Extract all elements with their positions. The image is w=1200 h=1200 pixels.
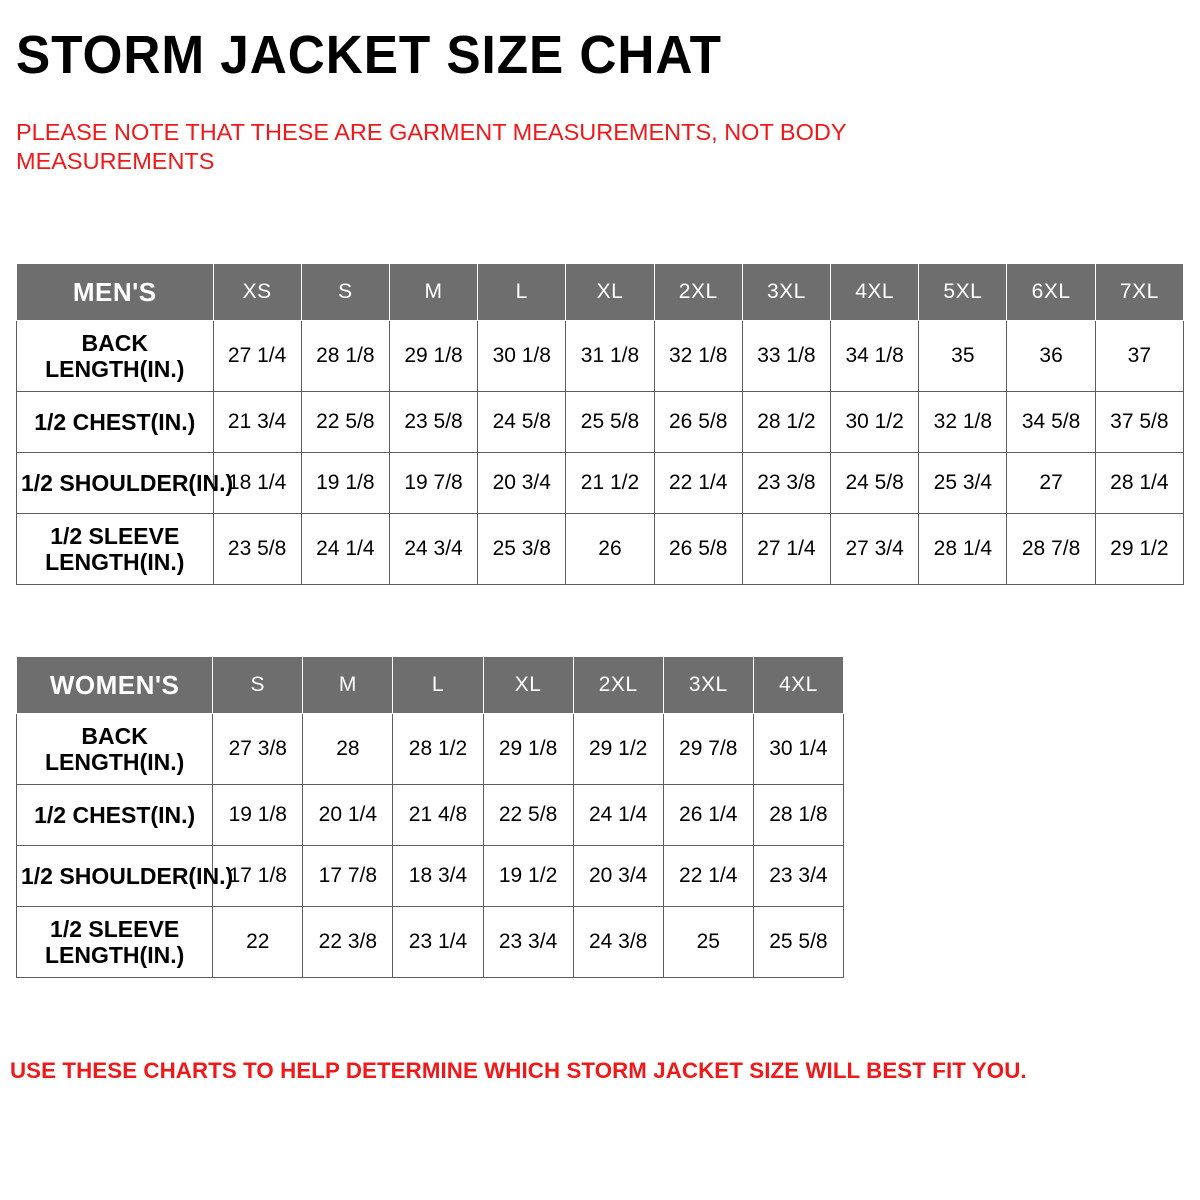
row-label-line: 1/2 SHOULDER(IN.) <box>21 470 233 496</box>
mens-size-header-3xl: 3XL <box>742 264 830 321</box>
womens-size-table: WOMEN'SSMLXL2XL3XL4XL BACKLENGTH(IN.)27 … <box>16 656 844 978</box>
measurement-cell: 24 1/4 <box>573 785 663 846</box>
measurement-cell: 24 3/8 <box>573 907 663 978</box>
mens-size-header-2xl: 2XL <box>654 264 742 321</box>
measurement-cell: 30 1/2 <box>831 392 919 453</box>
measurement-cell: 23 5/8 <box>213 514 301 585</box>
measurement-cell: 22 <box>213 907 303 978</box>
measurement-cell: 27 1/4 <box>213 321 301 392</box>
measurement-cell: 21 3/4 <box>213 392 301 453</box>
row-label-line: LENGTH(IN.) <box>45 356 184 382</box>
measurement-cell: 22 1/4 <box>663 846 753 907</box>
measurement-cell: 24 5/8 <box>831 453 919 514</box>
measurement-cell: 19 1/2 <box>483 846 573 907</box>
measurement-cell: 25 5/8 <box>566 392 654 453</box>
usage-note: USE THESE CHARTS TO HELP DETERMINE WHICH… <box>10 1058 1168 1084</box>
size-chart-page: STORM JACKET SIZE CHAT PLEASE NOTE THAT … <box>0 0 1200 1200</box>
womens-size-header-3xl: 3XL <box>663 657 753 714</box>
measurement-cell: 37 5/8 <box>1095 392 1183 453</box>
mens-row-label: 1/2 SLEEVELENGTH(IN.) <box>17 514 214 585</box>
mens-size-header-7xl: 7XL <box>1095 264 1183 321</box>
mens-size-header-4xl: 4XL <box>831 264 919 321</box>
measurement-cell: 34 1/8 <box>831 321 919 392</box>
measurement-cell: 22 5/8 <box>483 785 573 846</box>
mens-size-header-xl: XL <box>566 264 654 321</box>
measurement-cell: 30 1/8 <box>478 321 566 392</box>
measurement-cell: 20 3/4 <box>573 846 663 907</box>
womens-corner-header: WOMEN'S <box>17 657 213 714</box>
measurement-cell: 26 1/4 <box>663 785 753 846</box>
measurement-cell: 28 1/4 <box>1095 453 1183 514</box>
measurement-cell: 23 1/4 <box>393 907 483 978</box>
measurement-cell: 27 <box>1007 453 1095 514</box>
mens-table-head: MEN'SXSSMLXL2XL3XL4XL5XL6XL7XL <box>17 264 1184 321</box>
mens-corner-header: MEN'S <box>17 264 214 321</box>
measurement-cell: 27 1/4 <box>742 514 830 585</box>
measurement-cell: 28 1/8 <box>753 785 843 846</box>
measurement-cell: 22 5/8 <box>301 392 389 453</box>
measurement-cell: 29 7/8 <box>663 714 753 785</box>
womens-row-label: BACKLENGTH(IN.) <box>17 714 213 785</box>
womens-size-header-4xl: 4XL <box>753 657 843 714</box>
table-row: 1/2 CHEST(IN.)19 1/820 1/421 4/822 5/824… <box>17 785 844 846</box>
table-row: 1/2 SLEEVELENGTH(IN.)23 5/824 1/424 3/42… <box>17 514 1184 585</box>
measurement-cell: 29 1/2 <box>1095 514 1183 585</box>
measurement-cell: 28 1/2 <box>742 392 830 453</box>
womens-header-row: WOMEN'SSMLXL2XL3XL4XL <box>17 657 844 714</box>
measurement-cell: 28 1/4 <box>919 514 1007 585</box>
measurement-cell: 28 1/8 <box>301 321 389 392</box>
womens-table-body: BACKLENGTH(IN.)27 3/82828 1/229 1/829 1/… <box>17 714 844 978</box>
garment-measurement-note: PLEASE NOTE THAT THESE ARE GARMENT MEASU… <box>16 118 976 176</box>
measurement-cell: 25 <box>663 907 753 978</box>
measurement-cell: 29 1/8 <box>483 714 573 785</box>
measurement-cell: 28 1/2 <box>393 714 483 785</box>
measurement-cell: 33 1/8 <box>742 321 830 392</box>
measurement-cell: 24 1/4 <box>301 514 389 585</box>
mens-size-header-5xl: 5XL <box>919 264 1007 321</box>
measurement-cell: 27 3/4 <box>831 514 919 585</box>
mens-size-header-l: L <box>478 264 566 321</box>
row-label-line: LENGTH(IN.) <box>45 549 184 575</box>
mens-size-header-m: M <box>389 264 477 321</box>
measurement-cell: 29 1/8 <box>389 321 477 392</box>
measurement-cell: 29 1/2 <box>573 714 663 785</box>
measurement-cell: 22 1/4 <box>654 453 742 514</box>
womens-table-head: WOMEN'SSMLXL2XL3XL4XL <box>17 657 844 714</box>
measurement-cell: 30 1/4 <box>753 714 843 785</box>
mens-header-row: MEN'SXSSMLXL2XL3XL4XL5XL6XL7XL <box>17 264 1184 321</box>
row-label-line: 1/2 CHEST(IN.) <box>34 409 195 435</box>
womens-row-label: 1/2 SLEEVELENGTH(IN.) <box>17 907 213 978</box>
row-label-line: 1/2 SHOULDER(IN.) <box>21 863 233 889</box>
mens-row-label: BACKLENGTH(IN.) <box>17 321 214 392</box>
measurement-cell: 22 3/8 <box>303 907 393 978</box>
measurement-cell: 19 1/8 <box>213 785 303 846</box>
measurement-cell: 36 <box>1007 321 1095 392</box>
measurement-cell: 25 3/8 <box>478 514 566 585</box>
measurement-cell: 28 7/8 <box>1007 514 1095 585</box>
mens-row-label: 1/2 SHOULDER(IN.) <box>17 453 214 514</box>
womens-size-header-xl: XL <box>483 657 573 714</box>
womens-size-header-m: M <box>303 657 393 714</box>
table-row: 1/2 SHOULDER(IN.)17 1/817 7/818 3/419 1/… <box>17 846 844 907</box>
womens-row-label: 1/2 SHOULDER(IN.) <box>17 846 213 907</box>
table-row: BACKLENGTH(IN.)27 1/428 1/829 1/830 1/83… <box>17 321 1184 392</box>
measurement-cell: 32 1/8 <box>919 392 1007 453</box>
measurement-cell: 31 1/8 <box>566 321 654 392</box>
measurement-cell: 27 3/8 <box>213 714 303 785</box>
row-label-line: 1/2 CHEST(IN.) <box>34 802 195 828</box>
measurement-cell: 25 5/8 <box>753 907 843 978</box>
measurement-cell: 19 1/8 <box>301 453 389 514</box>
measurement-cell: 35 <box>919 321 1007 392</box>
measurement-cell: 18 3/4 <box>393 846 483 907</box>
mens-size-header-6xl: 6XL <box>1007 264 1095 321</box>
mens-size-header-s: S <box>301 264 389 321</box>
measurement-cell: 32 1/8 <box>654 321 742 392</box>
mens-row-label: 1/2 CHEST(IN.) <box>17 392 214 453</box>
mens-size-header-xs: XS <box>213 264 301 321</box>
womens-size-header-2xl: 2XL <box>573 657 663 714</box>
measurement-cell: 26 5/8 <box>654 392 742 453</box>
measurement-cell: 20 1/4 <box>303 785 393 846</box>
row-label-line: LENGTH(IN.) <box>45 749 184 775</box>
measurement-cell: 26 <box>566 514 654 585</box>
measurement-cell: 24 5/8 <box>478 392 566 453</box>
womens-size-header-s: S <box>213 657 303 714</box>
measurement-cell: 37 <box>1095 321 1183 392</box>
table-row: BACKLENGTH(IN.)27 3/82828 1/229 1/829 1/… <box>17 714 844 785</box>
row-label-line: BACK <box>81 723 147 749</box>
measurement-cell: 23 3/8 <box>742 453 830 514</box>
measurement-cell: 25 3/4 <box>919 453 1007 514</box>
row-label-line: 1/2 SLEEVE <box>50 523 179 549</box>
measurement-cell: 28 <box>303 714 393 785</box>
table-row: 1/2 SLEEVELENGTH(IN.)2222 3/823 1/423 3/… <box>17 907 844 978</box>
womens-size-header-l: L <box>393 657 483 714</box>
row-label-line: LENGTH(IN.) <box>45 942 184 968</box>
row-label-line: BACK <box>82 330 148 356</box>
table-row: 1/2 CHEST(IN.)21 3/422 5/823 5/824 5/825… <box>17 392 1184 453</box>
measurement-cell: 21 4/8 <box>393 785 483 846</box>
measurement-cell: 17 7/8 <box>303 846 393 907</box>
measurement-cell: 23 5/8 <box>389 392 477 453</box>
row-label-line: 1/2 SLEEVE <box>50 916 179 942</box>
measurement-cell: 21 1/2 <box>566 453 654 514</box>
measurement-cell: 20 3/4 <box>478 453 566 514</box>
measurement-cell: 23 3/4 <box>753 846 843 907</box>
page-title: STORM JACKET SIZE CHAT <box>16 24 722 86</box>
measurement-cell: 26 5/8 <box>654 514 742 585</box>
measurement-cell: 19 7/8 <box>389 453 477 514</box>
measurement-cell: 24 3/4 <box>389 514 477 585</box>
mens-size-table: MEN'SXSSMLXL2XL3XL4XL5XL6XL7XL BACKLENGT… <box>16 263 1184 585</box>
measurement-cell: 34 5/8 <box>1007 392 1095 453</box>
womens-row-label: 1/2 CHEST(IN.) <box>17 785 213 846</box>
measurement-cell: 23 3/4 <box>483 907 573 978</box>
table-row: 1/2 SHOULDER(IN.)18 1/419 1/819 7/820 3/… <box>17 453 1184 514</box>
mens-table-body: BACKLENGTH(IN.)27 1/428 1/829 1/830 1/83… <box>17 321 1184 585</box>
